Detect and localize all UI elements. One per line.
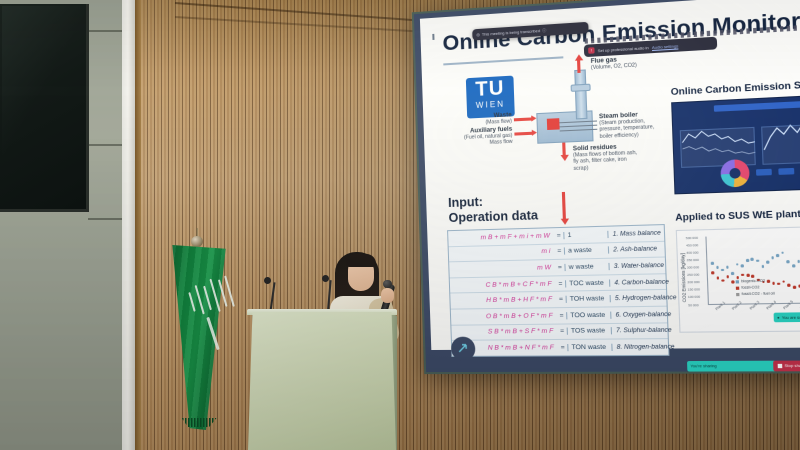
data-point	[776, 254, 779, 257]
share-badge-icon: ●	[777, 315, 780, 319]
data-point	[766, 261, 769, 264]
equation-row: N B * m B + N F * m F=TON waste8. Nitrog…	[452, 339, 668, 355]
legend-swatch	[736, 280, 739, 283]
data-point	[793, 286, 796, 289]
solid-residues-label: Solid residues(Mass flows of bottom ash,…	[573, 143, 642, 171]
equation-name: 8. Nitrogen-balance	[612, 343, 674, 351]
legend-swatch	[736, 293, 739, 296]
equation-equals: =	[554, 232, 564, 239]
wall-white-strip	[122, 0, 135, 450]
audio-settings-link[interactable]: Audio settings	[652, 43, 679, 50]
data-point	[711, 262, 714, 265]
data-point	[788, 284, 791, 287]
audio-notice-text: Set up professional audio in	[598, 44, 649, 52]
input-value: Operation data	[448, 208, 538, 226]
equation-name: 5. Hydrogen-balance	[611, 294, 677, 302]
data-point	[761, 265, 764, 268]
equation-right: 1	[563, 231, 608, 239]
equation-name: 1. Mass balance	[608, 229, 664, 238]
equation-right: TON waste	[567, 344, 612, 352]
equation-equals: =	[556, 296, 566, 303]
equation-name: 3. Water-balance	[609, 262, 665, 270]
x-tick-label: Plant 1	[715, 301, 726, 312]
waste-label: Waste(Mass flow)	[469, 112, 512, 127]
waste-arrow	[514, 117, 533, 121]
data-point	[726, 266, 729, 269]
microphone-head-left	[264, 277, 271, 284]
aux-fuel-label: Auxiliary fuels(Fuel oil, natural gas) M…	[460, 127, 513, 148]
microphone-capsule	[383, 280, 392, 288]
data-point	[781, 251, 784, 254]
y-axis	[705, 237, 708, 304]
equation-equals: =	[557, 312, 567, 319]
equation-row: S B * m B + S F * m F=TOS waste7. Sulphu…	[451, 323, 667, 341]
tu-logo-top: TU	[466, 76, 514, 102]
equation-name: 7. Sulphur-balance	[612, 327, 672, 335]
data-point	[771, 256, 774, 259]
x-tick-label: Plant 4	[765, 300, 777, 311]
x-tick-label: Plant 5	[782, 300, 794, 311]
data-point	[782, 280, 785, 283]
equation-right: TOS waste	[567, 327, 612, 335]
wall-monitor	[0, 4, 89, 212]
stop-share-label: Stop share	[784, 364, 800, 368]
equation-equals: =	[557, 328, 567, 335]
data-point	[721, 279, 724, 282]
equation-left: C B * m B + C F * m F	[450, 280, 556, 289]
equation-left: m i	[449, 248, 555, 258]
equation-equals: =	[555, 264, 565, 271]
equation-right: TOH waste	[566, 295, 611, 303]
flag-finial	[191, 236, 203, 247]
data-point	[751, 258, 754, 261]
microphone-head-right	[322, 275, 329, 282]
stack-collar	[571, 84, 591, 92]
equation-left: m B + m F + m i + m W	[448, 232, 554, 242]
data-point	[777, 282, 780, 285]
data-point	[741, 273, 744, 276]
stop-icon	[778, 364, 783, 368]
legend-label: fossil-CO2	[741, 285, 759, 290]
slide-marker	[432, 34, 434, 40]
equation-equals: =	[556, 280, 566, 287]
share-badge-text: You are screen sharing	[782, 315, 800, 320]
y-tick-label: 300 000	[687, 265, 699, 269]
speaker-fringe	[346, 254, 376, 267]
share-indicator-icon	[451, 337, 476, 361]
monitoring-dashboard-screenshot	[671, 94, 800, 195]
y-tick-label: 450 000	[686, 243, 698, 248]
data-point	[756, 259, 759, 262]
data-point	[711, 272, 714, 275]
equation-left: O B * m B + O F * m F	[451, 312, 557, 320]
sharing-status-text: You're sharing	[690, 364, 716, 368]
audio-alert-icon: !	[588, 47, 595, 54]
data-point	[721, 268, 724, 271]
data-point	[726, 275, 729, 278]
equation-right: TOC waste	[565, 279, 610, 287]
data-point	[731, 280, 734, 283]
data-point	[736, 263, 739, 266]
equation-left: H B * m B + H F * m F	[450, 296, 556, 305]
legend-swatch	[736, 287, 739, 290]
applied-heading: Applied to SUS WtE plants in China	[675, 206, 800, 223]
legend-label: biogenic-CO2	[741, 279, 765, 284]
data-point	[792, 265, 795, 268]
equation-left: m W	[449, 264, 555, 273]
input-section: Input: Operation data	[448, 193, 538, 226]
y-tick-label: 50 000	[688, 303, 698, 307]
equation-name: 6. Oxygen-balance	[611, 311, 671, 319]
equation-right: w waste	[564, 263, 609, 271]
data-point	[716, 266, 719, 269]
y-tick-label: 200 000	[687, 280, 699, 284]
projection-screen: Online Carbon Emission Monitoring System…	[412, 0, 800, 374]
chimney-stack	[574, 69, 587, 119]
y-tick-label: 150 000	[688, 288, 700, 292]
data-point	[787, 260, 790, 263]
title-underline	[443, 56, 563, 65]
speaker-hand	[381, 288, 394, 303]
data-point	[736, 276, 739, 279]
y-tick-label: 350 000	[687, 258, 699, 262]
data-point	[767, 280, 770, 283]
transcription-text: This meeting is being transcribed	[482, 28, 540, 37]
wood-wall-edge	[135, 0, 141, 450]
podium	[248, 312, 396, 450]
equation-right: TOO waste	[566, 311, 611, 319]
flow-down-arrow	[562, 192, 566, 219]
y-tick-label: 100 000	[688, 295, 700, 299]
furnace-flame	[547, 118, 560, 130]
data-point	[772, 282, 775, 285]
info-icon[interactable]: ⓘ	[542, 27, 546, 33]
data-point	[746, 274, 749, 277]
slide-surface: Online Carbon Emission Monitoring System…	[420, 0, 800, 350]
aux-fuel-arrow	[514, 132, 533, 136]
equation-name: 4. Carbon-balance	[610, 278, 669, 286]
y-tick-label: 250 000	[687, 273, 699, 277]
equation-right: a waste	[564, 247, 609, 255]
y-tick-label: 500 000	[686, 235, 698, 240]
screen-sharing-badge: ● You are screen sharing	[773, 312, 800, 322]
steam-boiler-label: Steam boiler(Steam production, pressure,…	[599, 111, 660, 140]
dashboard-heading: Online Carbon Emission System	[671, 77, 800, 97]
legend-label: fossil-CO2 - fuel oil	[742, 291, 775, 296]
stop-share-button[interactable]: Stop share	[773, 361, 800, 372]
balance-equation-table: m B + m F + m i + m W=11. Mass balancem …	[447, 224, 669, 357]
flue-gas-arrow	[577, 59, 581, 73]
equation-equals: =	[558, 344, 568, 351]
transcribe-icon: ◎	[476, 32, 480, 37]
flue-gas-label: Flue gas(Volume, O2, CO2)	[591, 56, 637, 71]
equation-name: 2. Ash-balance	[609, 245, 665, 254]
data-point	[746, 259, 749, 262]
data-point	[731, 272, 734, 275]
y-tick-label: 400 000	[686, 250, 698, 254]
tu-logo-bottom: WIEN	[467, 99, 515, 111]
equation-left: S B * m B + S F * m F	[451, 328, 557, 336]
x-tick-label: Plant 3	[748, 300, 760, 311]
data-point	[741, 264, 744, 267]
data-point	[716, 277, 719, 280]
solid-residue-arrow	[562, 143, 566, 155]
x-tick-label: Plant 2	[731, 300, 742, 311]
conference-photo: Online Carbon Emission Monitoring System…	[0, 0, 800, 450]
data-point	[751, 275, 754, 278]
equation-equals: =	[554, 248, 564, 255]
